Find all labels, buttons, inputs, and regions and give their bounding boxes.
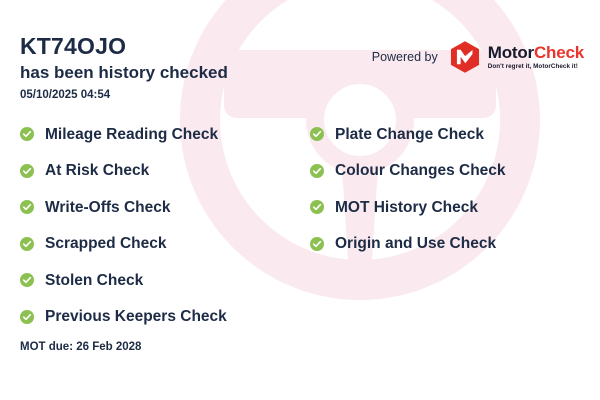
check-label: Scrapped Check <box>45 236 166 252</box>
check-label: MOT History Check <box>335 200 478 216</box>
check-timestamp: 05/10/2025 04:54 <box>20 89 228 101</box>
check-circle-icon <box>310 237 324 251</box>
check-circle-icon <box>310 164 324 178</box>
list-item: Plate Change Check <box>310 116 580 153</box>
motorcheck-wordmark-block: MotorCheck Don't regret it, MotorCheck i… <box>488 44 584 70</box>
check-circle-icon <box>310 127 324 141</box>
checks-left-column: Mileage Reading Check At Risk Check Writ… <box>20 116 310 335</box>
checks-right-column: Plate Change Check Colour Changes Check … <box>310 116 580 335</box>
check-label: Colour Changes Check <box>335 163 506 179</box>
list-item: Origin and Use Check <box>310 226 580 263</box>
vehicle-history-check-card: KT74OJO has been history checked 05/10/2… <box>0 0 600 400</box>
motorcheck-wordmark: MotorCheck <box>488 44 584 61</box>
check-label: Stolen Check <box>45 273 143 289</box>
check-circle-icon <box>20 237 34 251</box>
check-label: Plate Change Check <box>335 127 484 143</box>
mot-due-text: MOT due: 26 Feb 2028 <box>20 341 141 353</box>
header: KT74OJO has been history checked 05/10/2… <box>20 34 228 101</box>
check-label: Previous Keepers Check <box>45 309 227 325</box>
list-item: Mileage Reading Check <box>20 116 310 153</box>
motorcheck-hexagon-logo-icon <box>448 40 482 74</box>
registration-plate: KT74OJO <box>20 34 228 60</box>
list-item: Stolen Check <box>20 262 310 299</box>
checks-list: Mileage Reading Check At Risk Check Writ… <box>20 116 580 335</box>
wordmark-motor: Motor <box>488 43 534 62</box>
page-subtitle: has been history checked <box>20 62 228 83</box>
list-item: Write-Offs Check <box>20 189 310 226</box>
check-circle-icon <box>20 310 34 324</box>
check-circle-icon <box>20 164 34 178</box>
check-label: Mileage Reading Check <box>45 127 218 143</box>
check-label: Origin and Use Check <box>335 236 496 252</box>
powered-by-label: Powered by <box>372 50 438 64</box>
check-circle-icon <box>20 273 34 287</box>
check-label: At Risk Check <box>45 163 149 179</box>
wordmark-check: Check <box>534 43 584 62</box>
footer: MOT due: 26 Feb 2028 <box>20 341 141 353</box>
list-item: Previous Keepers Check <box>20 299 310 336</box>
brand-tagline: Don't regret it, MotorCheck it! <box>488 63 584 70</box>
check-circle-icon <box>20 200 34 214</box>
powered-by-block: Powered by MotorCheck Don't regret it, M… <box>372 40 584 74</box>
list-item: At Risk Check <box>20 153 310 190</box>
check-label: Write-Offs Check <box>45 200 170 216</box>
check-circle-icon <box>310 200 324 214</box>
list-item: Colour Changes Check <box>310 153 580 190</box>
list-item: MOT History Check <box>310 189 580 226</box>
list-item: Scrapped Check <box>20 226 310 263</box>
check-circle-icon <box>20 127 34 141</box>
